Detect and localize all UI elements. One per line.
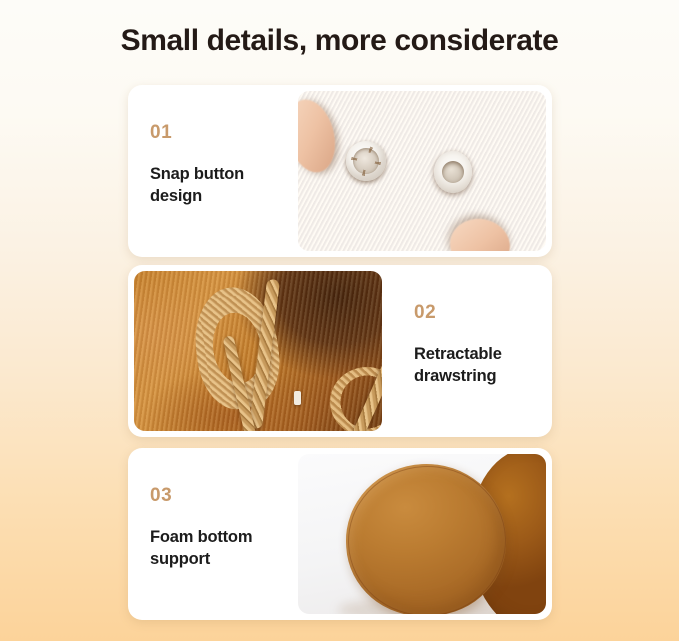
feature-text-pane: 03 Foam bottom support <box>128 448 292 620</box>
drawstring-tip <box>294 391 301 405</box>
feature-text-pane: 02 Retractable drawstring <box>388 265 552 437</box>
drawstring-photo <box>134 271 382 431</box>
foam-sole-photo <box>298 454 546 614</box>
product-detail-infographic: Small details, more considerate 01 Snap … <box>0 0 679 641</box>
feature-card-01: 01 Snap button design <box>128 85 552 257</box>
snap-button-notches <box>346 141 386 181</box>
fur-texture-overlay-secondary <box>298 91 546 251</box>
feature-label: Snap button design <box>150 164 292 208</box>
feature-text-pane: 01 Snap button design <box>128 85 292 257</box>
feature-card-02: 02 Retractable drawstring <box>128 265 552 437</box>
snap-button-right <box>434 151 472 193</box>
feature-number: 02 <box>414 303 552 322</box>
feature-label: Foam bottom support <box>150 527 292 571</box>
page-title: Small details, more considerate <box>0 24 679 58</box>
feature-number: 01 <box>150 123 292 142</box>
feature-number: 03 <box>150 486 292 505</box>
feature-label: Retractable drawstring <box>414 344 552 388</box>
feature-card-03: 03 Foam bottom support <box>128 448 552 620</box>
snap-button-photo <box>298 91 546 251</box>
